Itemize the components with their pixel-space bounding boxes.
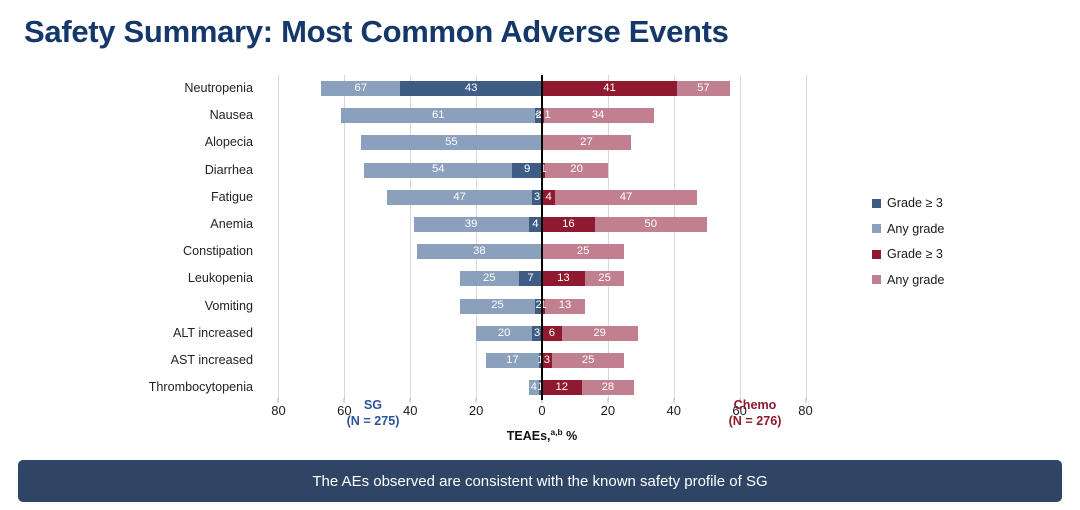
page-title: Safety Summary: Most Common Adverse Even…	[24, 14, 729, 50]
segment-value-label: 61	[432, 110, 445, 121]
legend-swatch	[872, 224, 881, 233]
footer-banner: The AEs observed are consistent with the…	[18, 460, 1062, 502]
category-label: Thrombocytopenia	[149, 381, 253, 394]
bar-sg-any-grade: 25	[460, 299, 542, 314]
bar-sg-any-grade: 17	[486, 353, 542, 368]
category-label: Leukopenia	[188, 272, 253, 285]
legend-item: Grade ≥ 3	[872, 196, 944, 210]
category-label: Anemia	[210, 218, 253, 231]
bar-chemo-any-grade: 13	[542, 299, 585, 314]
chart-gridline	[674, 75, 675, 400]
chart-gridline	[410, 75, 411, 400]
bar-chemo-grade3: 6	[542, 326, 562, 341]
segment-value-label: 57	[697, 83, 710, 94]
legend-swatch	[872, 199, 881, 208]
legend-item: Any grade	[872, 273, 944, 287]
bar-chemo-any-grade: 20	[542, 163, 608, 178]
bar-chemo-any-grade: 47	[542, 190, 697, 205]
legend-swatch	[872, 275, 881, 284]
bar-chemo-grade3: 4	[542, 190, 555, 205]
segment-value-label: 6	[549, 328, 555, 339]
zero-axis-line	[541, 75, 543, 400]
segment-value-label: 25	[582, 355, 595, 366]
category-label: Diarrhea	[205, 164, 253, 177]
chart-legend: Grade ≥ 3Any gradeGrade ≥ 3Any grade	[872, 196, 944, 287]
legend-label: Grade ≥ 3	[887, 196, 943, 210]
segment-value-label: 13	[559, 300, 572, 311]
category-label: Vomiting	[205, 300, 253, 313]
bar-sg-grade3: 43	[400, 81, 542, 96]
legend-swatch	[872, 250, 881, 259]
annotation-sg-name: SG	[313, 398, 433, 414]
segment-value-label: 9	[524, 164, 530, 175]
bar-chemo-grade3: 12	[542, 380, 582, 395]
segment-value-label: 20	[498, 328, 511, 339]
segment-value-label: 7	[527, 273, 533, 284]
segment-value-label: 25	[491, 300, 504, 311]
chart-plot-area: Neutropenia67435741Nausea61234< 1Alopeci…	[262, 75, 822, 400]
segment-value-label: 3	[534, 192, 540, 203]
segment-value-label: 3	[534, 328, 540, 339]
category-label: Constipation	[183, 245, 253, 258]
x-axis-footnote-marker: a,b	[551, 427, 563, 437]
bar-chemo-any-grade: 27	[542, 135, 631, 150]
segment-value-label: 25	[577, 246, 590, 257]
category-label: ALT increased	[173, 327, 253, 340]
x-axis-tick-label: 40	[667, 403, 681, 418]
category-label: AST increased	[171, 354, 253, 367]
segment-value-label: 17	[506, 355, 519, 366]
x-axis-title-unit: %	[563, 429, 578, 443]
segment-value-label: 20	[570, 164, 583, 175]
chart-gridline	[740, 75, 741, 400]
bar-sg-any-grade: 38	[417, 244, 542, 259]
bar-chemo-grade3: 41	[542, 81, 677, 96]
segment-value-label: 47	[453, 192, 466, 203]
x-axis-tick-label: 20	[601, 403, 615, 418]
bar-chemo-grade3: 3	[542, 353, 552, 368]
segment-value-label: 67	[355, 83, 368, 94]
bar-sg-grade3: 7	[519, 271, 542, 286]
segment-value-label: 34	[592, 110, 605, 121]
bar-sg-any-grade: 61	[341, 108, 542, 123]
segment-value-label: 43	[465, 83, 478, 94]
annotation-chemo-group: Chemo (N = 276)	[690, 398, 820, 429]
bar-chemo-any-grade: 25	[542, 244, 624, 259]
bar-sg-grade3: 4	[529, 217, 542, 232]
segment-value-label: 16	[562, 219, 575, 230]
x-axis-tick-label: 0	[538, 403, 545, 418]
x-axis-tick-label: 80	[271, 403, 285, 418]
category-label: Alopecia	[205, 136, 253, 149]
footer-banner-text: The AEs observed are consistent with the…	[312, 473, 767, 490]
annotation-sg-n: (N = 275)	[313, 414, 433, 430]
bar-sg-any-grade: 55	[361, 135, 542, 150]
bar-chemo-grade3: 13	[542, 271, 585, 286]
chart-gridline	[278, 75, 279, 400]
segment-value-label: 38	[473, 246, 486, 257]
chart-gridline	[608, 75, 609, 400]
x-axis-tick-label: 20	[469, 403, 483, 418]
chart-gridline	[476, 75, 477, 400]
bar-sg-any-grade: 39	[414, 217, 542, 232]
bar-chemo-grade3: 16	[542, 217, 595, 232]
segment-value-label: < 1	[535, 110, 551, 121]
legend-label: Grade ≥ 3	[887, 247, 943, 261]
segment-value-label: 28	[602, 382, 615, 393]
annotation-chemo-n: (N = 276)	[690, 414, 820, 430]
legend-item: Grade ≥ 3	[872, 247, 944, 261]
legend-label: Any grade	[887, 222, 944, 236]
segment-value-label: 54	[432, 164, 445, 175]
segment-value-label: 4	[532, 219, 538, 230]
segment-value-label: 39	[465, 219, 478, 230]
category-label: Fatigue	[211, 191, 253, 204]
bar-chemo-any-grade: 25	[542, 353, 624, 368]
segment-value-label: 3	[544, 355, 550, 366]
legend-item: Any grade	[872, 222, 944, 236]
legend-label: Any grade	[887, 273, 944, 287]
segment-value-label: 41	[603, 83, 616, 94]
bar-chemo-any-grade: 34	[542, 108, 654, 123]
segment-value-label: 27	[580, 137, 593, 148]
segment-value-label: 4	[545, 192, 551, 203]
segment-value-label: 12	[555, 382, 568, 393]
segment-value-label: 25	[483, 273, 496, 284]
segment-value-label: 4	[531, 382, 537, 393]
segment-value-label: 50	[644, 219, 657, 230]
annotation-chemo-name: Chemo	[690, 398, 820, 414]
segment-value-label: 13	[557, 273, 570, 284]
bar-sg-grade3: 9	[512, 163, 542, 178]
segment-value-label: 55	[445, 137, 458, 148]
chart-gridline	[806, 75, 807, 400]
annotation-sg-group: SG (N = 275)	[313, 398, 433, 429]
segment-value-label: 47	[620, 192, 633, 203]
bar-sg-any-grade: 47	[387, 190, 542, 205]
segment-value-label: 29	[593, 328, 606, 339]
chart-gridline	[344, 75, 345, 400]
category-label: Nausea	[210, 109, 253, 122]
category-label: Neutropenia	[184, 82, 253, 95]
x-axis-title-text: TEAEs,	[507, 429, 551, 443]
segment-value-label: 25	[598, 273, 611, 284]
